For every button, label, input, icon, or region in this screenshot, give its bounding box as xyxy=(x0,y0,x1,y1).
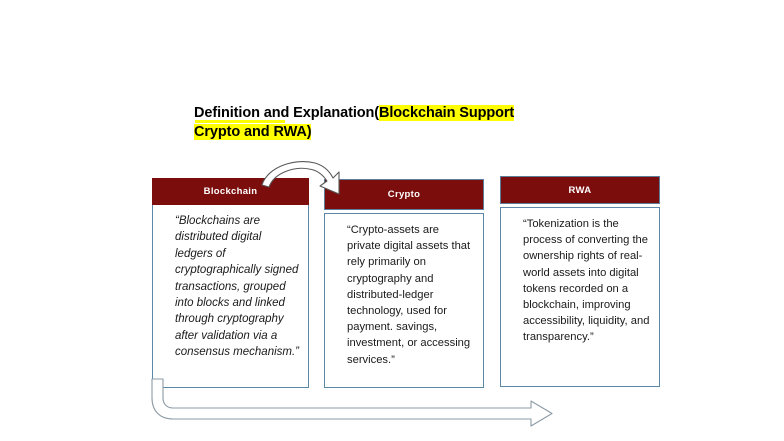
concept-card-blockchain-text: “Blockchains are distributed digital led… xyxy=(161,213,299,361)
page-title-highlight-2: Crypto and RWA) xyxy=(194,124,311,140)
page-title-plain-text: Definition and Explanation( xyxy=(194,105,379,121)
concept-card-rwa-title: RWA xyxy=(569,185,592,196)
page-title-highlight-underline xyxy=(195,120,285,123)
page-title-highlight-1: Blockchain Support xyxy=(379,105,514,121)
concept-card-blockchain[interactable]: Blockchain “Blockchains are distributed … xyxy=(152,178,309,388)
concept-card-crypto-text: “Crypto-assets are private digital asset… xyxy=(333,222,474,368)
concept-card-blockchain-title: Blockchain xyxy=(204,186,258,197)
concept-card-blockchain-body: “Blockchains are distributed digital led… xyxy=(152,205,309,388)
concept-card-crypto[interactable]: Crypto “Crypto-assets are private digita… xyxy=(324,179,484,388)
concept-card-rwa[interactable]: RWA “Tokenization is the process of conv… xyxy=(500,176,660,387)
slide-canvas: Definition and Explanation(Blockchain Su… xyxy=(0,0,784,441)
concept-card-blockchain-header: Blockchain xyxy=(152,178,309,205)
concept-card-rwa-body: “Tokenization is the process of converti… xyxy=(500,207,660,387)
concept-card-crypto-title: Crypto xyxy=(388,189,420,200)
page-title: Definition and Explanation(Blockchain Su… xyxy=(194,104,594,142)
page-title-line-2: Crypto and RWA) xyxy=(194,123,594,142)
concept-card-rwa-text: “Tokenization is the process of converti… xyxy=(509,216,650,346)
concept-card-crypto-body: “Crypto-assets are private digital asset… xyxy=(324,213,484,388)
concept-card-crypto-header: Crypto xyxy=(324,179,484,210)
concept-card-rwa-header: RWA xyxy=(500,176,660,204)
